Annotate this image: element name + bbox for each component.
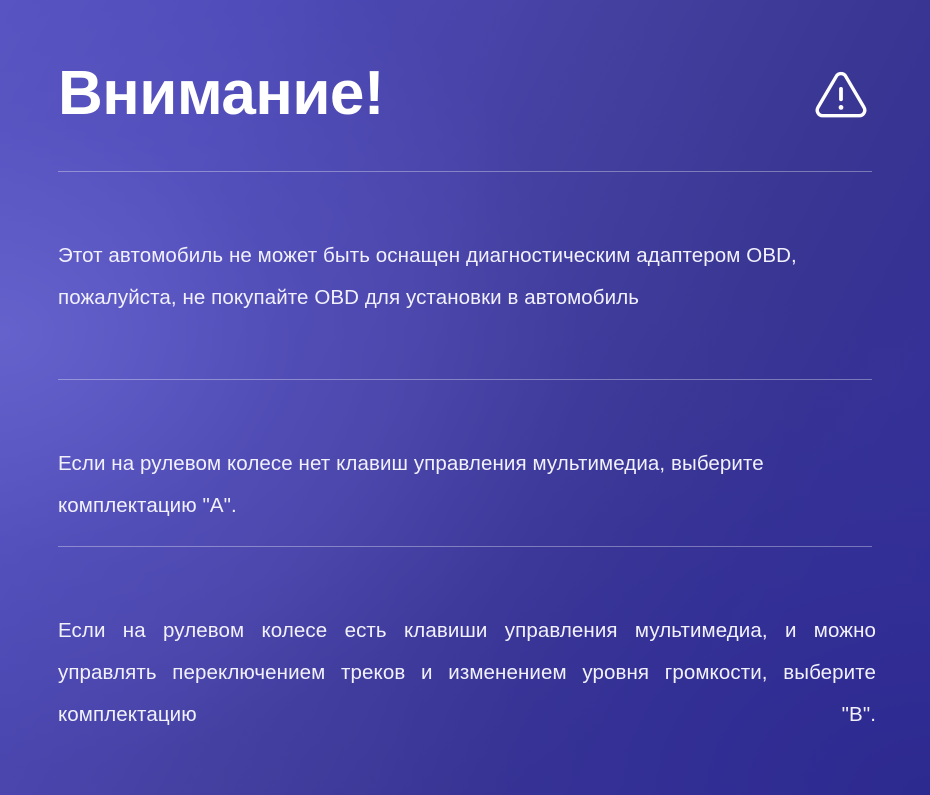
page-title: Внимание!	[58, 63, 384, 125]
notice-paragraph-variant-a: Если на рулевом колесе нет клавиш управл…	[58, 443, 876, 527]
divider-bottom	[58, 546, 872, 547]
notice-paragraph-variant-b: Если на рулевом колесе есть клавиши упра…	[58, 610, 876, 778]
notice-header: Внимание!	[58, 46, 872, 142]
warning-triangle-icon	[814, 69, 868, 119]
notice-paragraph-obd-warning: Этот автомобиль не может быть оснащен ди…	[58, 235, 876, 319]
divider-top	[58, 171, 872, 172]
divider-middle	[58, 379, 872, 380]
warning-icon-wrapper	[814, 69, 872, 119]
warning-notice-panel: Внимание! Этот автомобиль не может быть …	[0, 0, 930, 795]
